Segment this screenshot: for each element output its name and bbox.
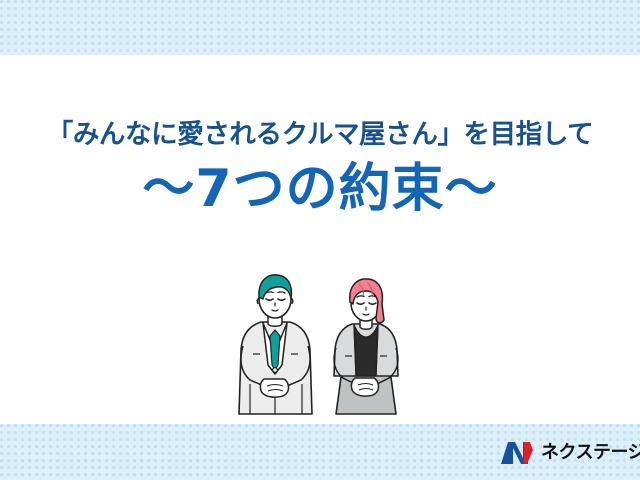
top-dotted-band [0,0,640,55]
two-staff-bowing-illustration [234,266,414,426]
headline-block: 「みんなに愛されるクルマ屋さん」を目指して 〜7つの約束〜 [0,118,640,218]
page-title-secondary: 〜7つの約束〜 [0,161,640,218]
page-title-primary: 「みんなに愛されるクルマ屋さん」を目指して [0,118,640,151]
slide-canvas: 「みんなに愛されるクルマ屋さん」を目指して 〜7つの約束〜 [0,0,640,480]
nextage-n-logomark-icon [500,440,534,466]
brand-wordmark: ネクステージ [541,440,640,466]
brand-logo: ネクステージ [500,440,640,466]
female-staff-figure [334,279,398,414]
male-staff-figure [239,275,312,414]
